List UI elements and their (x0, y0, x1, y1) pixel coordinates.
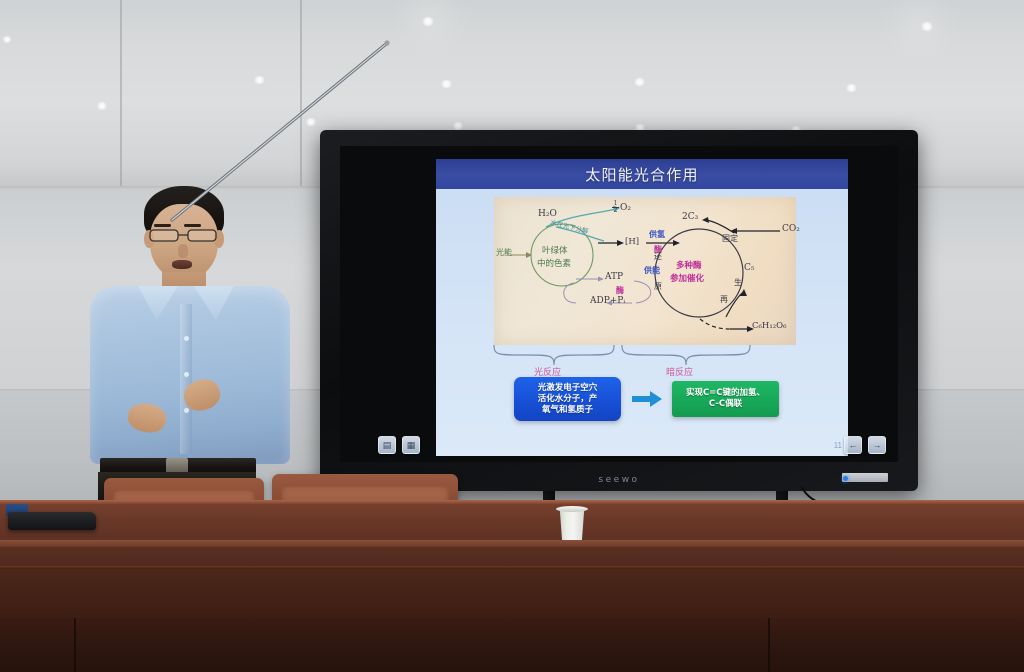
oxygen-coeff-denominator: 2 (614, 208, 618, 214)
blue-callout-line-2: 活化水分子，产 (538, 394, 598, 405)
green-callout-box: 实现C=C键的加氢、 C-C偶联 (672, 381, 779, 417)
ceiling-light-7 (96, 102, 108, 110)
photosynthesis-diagram: 光能 叶绿体 中的色素 H₂O 水在光下分解 1 2 O₂ [H] (494, 197, 796, 345)
label-oxygen: O₂ (620, 203, 631, 213)
display-power-led (843, 476, 848, 481)
blue-callout-line-3: 氧气和氢质子 (542, 405, 593, 416)
pointer-stick (152, 40, 402, 230)
slide-title: 太阳能光合作用 (585, 164, 698, 185)
label-oxygen-group: 1 2 O₂ (612, 201, 631, 214)
label-supply-energy: 供能 (644, 265, 660, 276)
ceiling-light-12 (2, 36, 12, 43)
osd-button-prev[interactable]: ← (844, 436, 862, 454)
label-many-enzymes-1: 多种酶 (676, 259, 702, 271)
paper-cup (558, 508, 586, 542)
presenter-shirt-placket (180, 304, 192, 454)
ceiling-light-5 (633, 78, 646, 86)
label-reduction-char2: 原 (654, 281, 662, 292)
label-fixation-1: 固定 (722, 233, 738, 244)
label-supply-hydrogen: 供氢 (649, 229, 665, 240)
green-callout-line-1: 实现C=C键的加氢、 (686, 388, 765, 399)
osd-button-next[interactable]: → (868, 436, 886, 454)
podium-panel-divider-1 (74, 618, 76, 672)
ceiling-light-9 (452, 122, 464, 130)
green-callout-line-2: C-C偶联 (709, 399, 742, 410)
presenter-mouth (172, 260, 192, 269)
laptop[interactable] (8, 512, 96, 530)
ceiling-light-1 (421, 17, 435, 26)
label-glucose: C₆H₁₂O₆ (752, 321, 787, 331)
podium-desk-groove (0, 566, 1024, 569)
reaction-braces (436, 341, 848, 381)
label-chloroplast-line1: 叶绿体 (542, 244, 568, 256)
label-chloroplast-line2: 中的色素 (537, 257, 571, 269)
presenter (84, 186, 296, 504)
label-reducing-power: [H] (625, 237, 639, 247)
callout-arrow-icon (632, 391, 662, 407)
glasses-icon (148, 228, 220, 243)
ceiling-light-4 (440, 80, 453, 88)
label-reduction-char1: 还 (654, 251, 662, 262)
lecture-hall-photo: 太阳能光合作用 (0, 0, 1024, 672)
osd-button-left-1[interactable]: ▤ (378, 436, 396, 454)
display-spec-sticker (842, 473, 888, 482)
wall-vertical-seam-left (120, 0, 122, 186)
shirt-button-1 (184, 336, 189, 341)
slide-number: 11 (834, 441, 842, 450)
wall-ledge-highlight (0, 500, 1024, 504)
label-atp: ATP (605, 272, 623, 282)
label-co2: CO₂ (782, 224, 800, 234)
label-many-enzymes-2: 参加催化 (670, 272, 704, 284)
ceiling-light-6 (845, 84, 858, 92)
label-dark-reaction: 暗反应 (666, 365, 693, 378)
podium-panel-divider-2 (768, 618, 770, 672)
podium-lower-panel (0, 618, 1024, 672)
display-screen-area: 太阳能光合作用 (340, 146, 898, 462)
presenter-nose (178, 244, 188, 258)
label-enzyme-2: 酶 (616, 285, 624, 296)
label-c5: C₅ (744, 263, 755, 273)
label-light-energy: 光能 (496, 247, 512, 258)
shirt-button-2 (184, 372, 189, 377)
osd-button-left-2[interactable]: ▦ (402, 436, 420, 454)
ceiling-light-2 (920, 22, 934, 31)
label-adp: ADP+Pᵢ (590, 296, 625, 306)
interactive-display[interactable]: 太阳能光合作用 (320, 130, 918, 491)
label-2c3: 2C₃ (682, 212, 698, 222)
presentation-slide[interactable]: 太阳能光合作用 (436, 159, 848, 456)
display-brand-logo: seewo (598, 475, 639, 485)
label-regenerate: 再 (720, 294, 728, 305)
paper-cup-rim (556, 506, 588, 512)
blue-callout-box: 光激发电子空穴 活化水分子，产 氧气和氢质子 (514, 377, 621, 421)
podium-desk-edge (0, 540, 1024, 547)
slide-title-bar: 太阳能光合作用 (436, 159, 848, 189)
shirt-button-3 (184, 408, 189, 413)
label-produce: 生 (734, 277, 742, 288)
blue-callout-line-1: 光激发电子空穴 (538, 383, 598, 394)
